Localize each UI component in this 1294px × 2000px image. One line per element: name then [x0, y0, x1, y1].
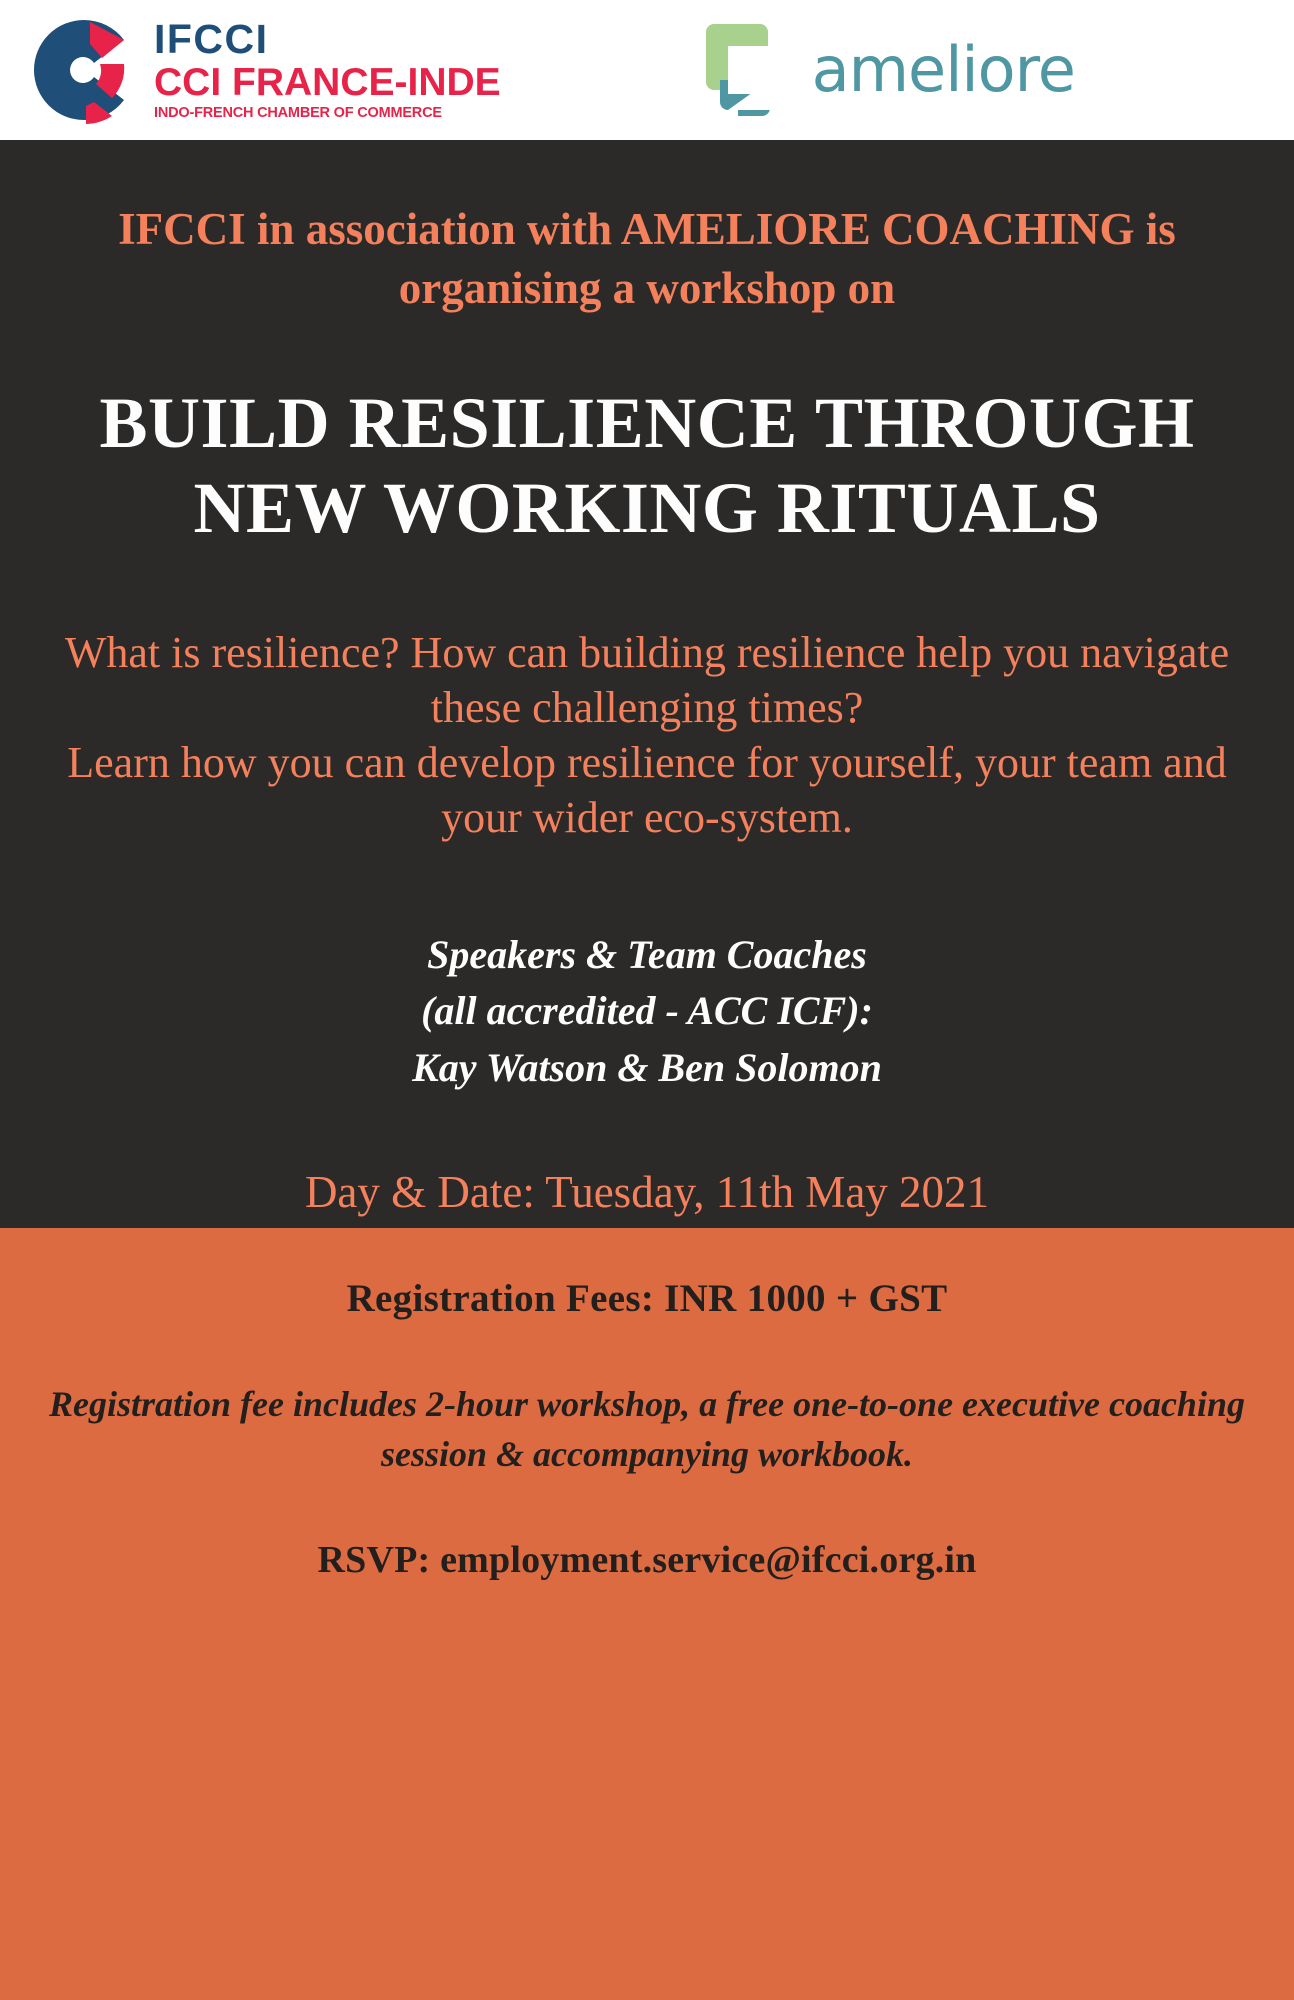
workshop-description: What is resilience? How can building res… — [28, 625, 1266, 845]
speakers-names: Kay Watson & Ben Solomon — [0, 1040, 1294, 1097]
speakers-block: Speakers & Team Coaches (all accredited … — [0, 927, 1294, 1097]
ifcci-name-line2: CCI FRANCE-INDE — [154, 63, 501, 102]
description-paragraph-1: What is resilience? How can building res… — [65, 628, 1229, 732]
registration-footer: Registration Fees: INR 1000 + GST Regist… — [0, 1228, 1294, 2000]
poster-body: IFCCI in association with AMELIORE COACH… — [0, 140, 1294, 1228]
ameliore-wordmark: ameliore — [812, 39, 1075, 101]
ifcci-wordmark: IFCCI CCI FRANCE-INDE INDO-FRENCH CHAMBE… — [154, 19, 501, 121]
ameliore-squares-icon — [706, 24, 798, 116]
rsvp-line[interactable]: RSVP: employment.service@ifcci.org.in — [0, 1538, 1294, 1582]
registration-fee: Registration Fees: INR 1000 + GST — [0, 1228, 1294, 1321]
logo-header-bar: IFCCI CCI FRANCE-INDE INDO-FRENCH CHAMBE… — [0, 0, 1294, 140]
workshop-title: BUILD RESILIENCE THROUGH NEW WORKING RIT… — [28, 381, 1266, 551]
ifcci-name-line1: IFCCI — [154, 19, 501, 60]
ameliore-logo: ameliore — [706, 24, 1075, 116]
ifcci-logo: IFCCI CCI FRANCE-INDE INDO-FRENCH CHAMBE… — [28, 14, 501, 126]
speakers-accreditation: (all accredited - ACC ICF): — [0, 983, 1294, 1040]
event-poster: IFCCI CCI FRANCE-INDE INDO-FRENCH CHAMBE… — [0, 0, 1294, 2000]
registration-includes: Registration fee includes 2-hour worksho… — [48, 1379, 1246, 1480]
description-paragraph-2: Learn how you can develop resilience for… — [28, 735, 1266, 845]
ifcci-circle-mark-icon — [28, 14, 140, 126]
ameliore-white-fold — [728, 80, 770, 110]
intro-text: IFCCI in association with AMELIORE COACH… — [50, 140, 1244, 319]
ifcci-tagline: INDO-FRENCH CHAMBER OF COMMERCE — [154, 106, 501, 121]
event-date: Day & Date: Tuesday, 11th May 2021 — [0, 1163, 1294, 1222]
speakers-heading: Speakers & Team Coaches — [0, 927, 1294, 984]
